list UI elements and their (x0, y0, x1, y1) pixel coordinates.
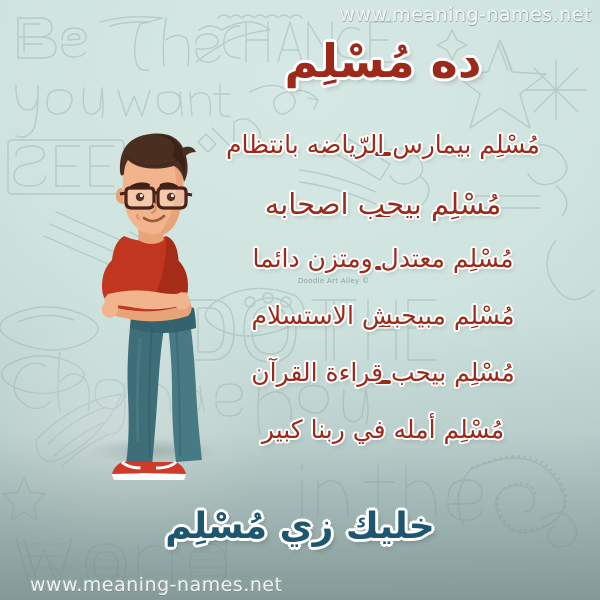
trait-text: مُسْلِم أمله في ربنا كبير (262, 415, 504, 444)
list-item: مُسْلِم معتدل ومتزن دائما (174, 246, 592, 303)
trait-text: مُسْلِم معتدل ومتزن دائما (253, 244, 514, 273)
list-item: مُسْلِم مبيحبش الاستسلام (174, 303, 592, 360)
list-item: مُسْلِم بيحب قراءة القرآن (174, 360, 592, 417)
traits-list: مُسْلِم بيمارس الرّياضه بانتظام مُسْلِم … (174, 132, 592, 474)
list-item: مُسْلِم بيمارس الرّياضه بانتظام (174, 132, 592, 189)
footer-slogan: خليك زي مُسْلِم (0, 506, 600, 547)
trait-text: مُسْلِم بيمارس الرّياضه بانتظام (226, 130, 540, 159)
list-item: مُسْلِم بيحب اصحابه (174, 189, 592, 246)
trait-text: مُسْلِم بيحب قراءة القرآن (251, 358, 515, 387)
list-item: مُسْلِم أمله في ربنا كبير (174, 417, 592, 474)
name-meaning-card: www.meaning-names.net www.meaning-names.… (0, 0, 600, 600)
page-title: ده مُسْلِم (178, 38, 588, 84)
trait-text: مُسْلِم بيحب اصحابه (265, 187, 502, 221)
trait-text: مُسْلِم مبيحبش الاستسلام (252, 301, 515, 330)
